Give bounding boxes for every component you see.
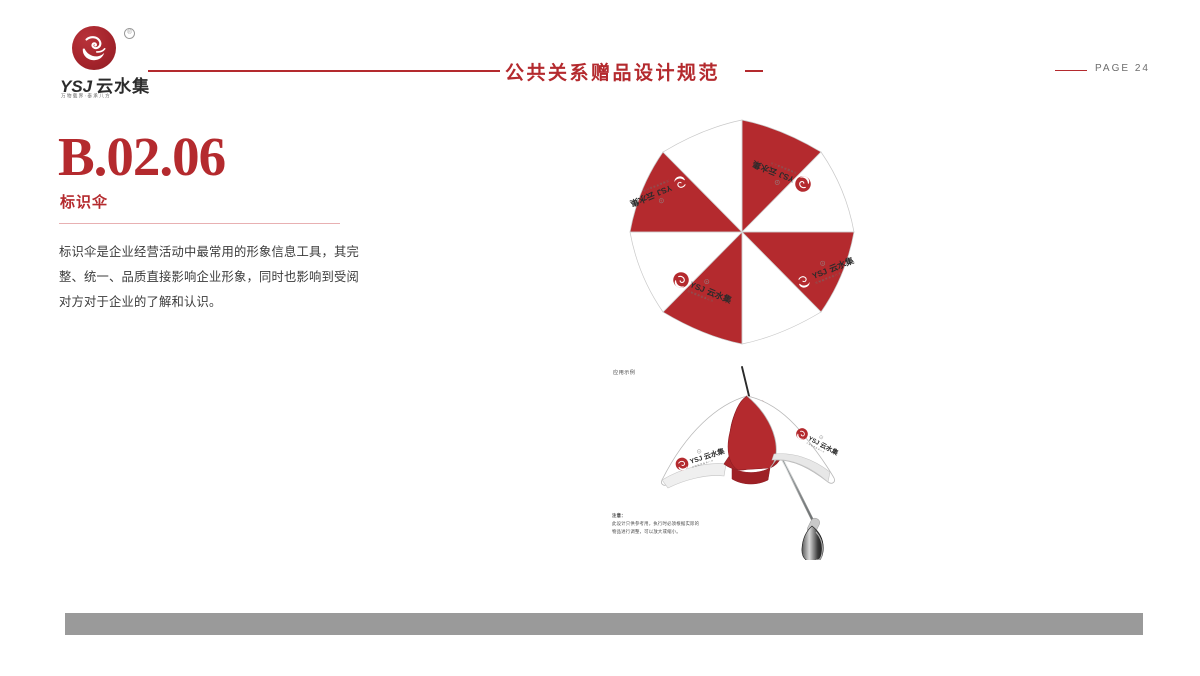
- section-subtitle: 标识伞: [60, 191, 108, 212]
- registered-mark-icon: ®: [124, 28, 135, 39]
- page-header: ® YSJ云水集 万物载界·泰承八方 公共关系赠品设计规范 PAGE 24: [0, 0, 1200, 110]
- umbrella-top-view: YSJ 云水集 万物载界泰承八方 R: [617, 118, 867, 346]
- page-number: PAGE 24: [1095, 63, 1150, 74]
- brand-logo: ® YSJ云水集 万物载界·泰承八方: [60, 26, 160, 106]
- section-body-text: 标识伞是企业经营活动中最常用的形象信息工具，其完整、统一、品质直接影响企业形象，…: [59, 240, 359, 316]
- brand-wordmark: YSJ云水集: [60, 72, 160, 92]
- umbrella-tip-spike: [742, 367, 750, 400]
- swan-circle-logo-icon: [72, 26, 116, 70]
- umbrella-top-view-graphic: YSJ 云水集 万物载界泰承八方 R: [617, 118, 867, 346]
- header-rule-left: [148, 70, 500, 72]
- swan-glyph-icon: [72, 26, 116, 70]
- page-title: 公共关系赠品设计规范: [505, 58, 720, 85]
- header-rule-mid: [745, 70, 763, 72]
- note-line-2: 物品进行调整，可以放大或缩小。: [612, 528, 762, 536]
- header-rule-right: [1055, 70, 1087, 71]
- section-code: B.02.06: [58, 129, 225, 184]
- note-block: 注意： 此设计只供参考用，执行时必须根据实际的 物品进行调整，可以放大或缩小。: [612, 512, 762, 536]
- section-divider: [59, 223, 340, 224]
- note-line-1: 此设计只供参考用，执行时必须根据实际的: [612, 520, 762, 528]
- umbrella-handle: [802, 517, 823, 560]
- note-title: 注意：: [612, 512, 762, 520]
- page-canvas: ® YSJ云水集 万物载界·泰承八方 公共关系赠品设计规范 PAGE 24 B.…: [0, 0, 1200, 676]
- brand-tagline: 万物载界·泰承八方: [61, 93, 161, 100]
- footer-bar: [65, 613, 1143, 635]
